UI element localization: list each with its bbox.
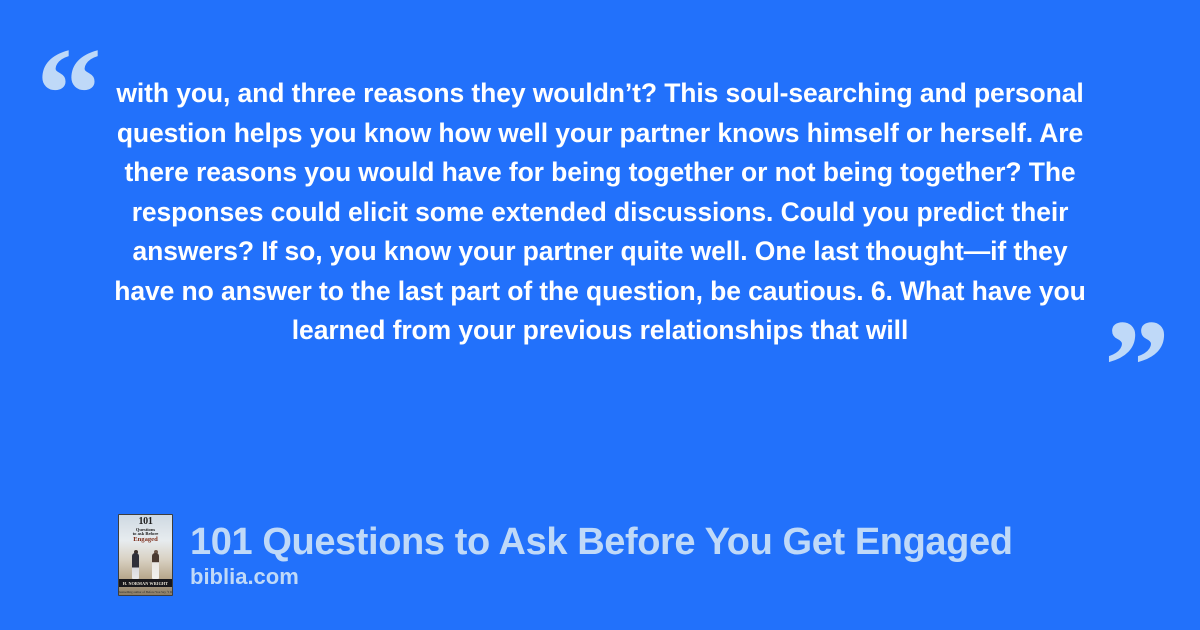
book-cover-figure-woman-icon [152,553,159,579]
book-title[interactable]: 101 Questions to Ask Before You Get Enga… [190,521,1013,563]
book-cover-line5: Engaged [119,537,172,544]
footer-text-group: 101 Questions to Ask Before You Get Enga… [190,521,1013,590]
quote-card: “ ” with you, and three reasons they wou… [0,0,1200,630]
close-quote-icon: ” [1104,300,1170,432]
book-cover-figure-man-icon [132,553,139,579]
quote-block: with you, and three reasons they wouldn’… [108,74,1092,351]
footer-attribution[interactable]: 101 Questions to ask Before Engaged H. N… [118,514,1013,596]
book-cover-number: 101 [119,517,172,528]
book-cover-thumbnail[interactable]: 101 Questions to ask Before Engaged H. N… [118,514,173,596]
book-cover-title-group: 101 Questions to ask Before Engaged [119,517,172,544]
book-cover-author: H. NORMAN WRIGHT [119,581,172,586]
quote-text: with you, and three reasons they wouldn’… [108,74,1092,351]
site-name[interactable]: biblia.com [190,564,1013,590]
book-cover-subtitle: bestselling author of Before You Say “I … [119,590,172,594]
open-quote-icon: “ [36,28,102,160]
